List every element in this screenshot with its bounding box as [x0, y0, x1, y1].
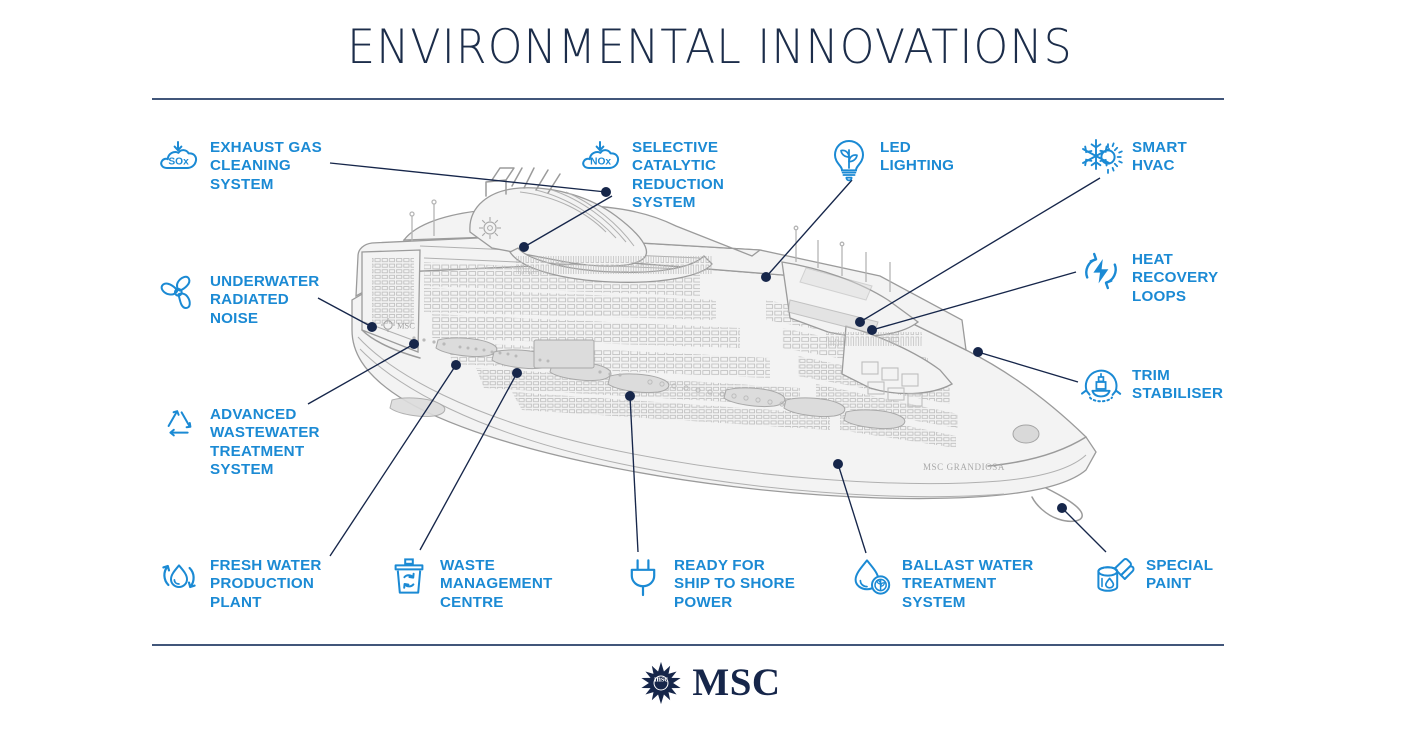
infographic-canvas: ENVIRONMENTAL INNOVATIONS .sl{fill:none;… — [0, 0, 1420, 730]
callout-waste-management-centre[interactable]: WASTE MANAGEMENT CENTRE — [386, 554, 586, 612]
callout-label: BALLAST WATER TREATMENT SYSTEM — [902, 554, 1033, 612]
drop-badge-icon — [848, 554, 894, 600]
paint-can-brush-icon — [1092, 554, 1138, 600]
callout-underwater-radiated-noise[interactable]: UNDERWATER RADIATED NOISE — [156, 270, 356, 328]
callout-heat-recovery-loops[interactable]: HEAT RECOVERY LOOPS — [1078, 248, 1268, 306]
msc-brand-logo: msc MSC — [0, 660, 1420, 705]
callout-label: FRESH WATER PRODUCTION PLANT — [210, 554, 322, 612]
callout-label: READY FOR SHIP TO SHORE POWER — [674, 554, 795, 612]
callout-ballast-water-treatment-system[interactable]: BALLAST WATER TREATMENT SYSTEM — [848, 554, 1048, 612]
propeller-icon — [156, 270, 202, 316]
callout-label: SPECIAL PAINT — [1146, 554, 1213, 594]
callout-label: EXHAUST GAS CLEANING SYSTEM — [210, 136, 322, 194]
callout-trim-stabiliser[interactable]: TRIM STABILISER — [1078, 364, 1268, 410]
nox-cloud-icon: NOx — [578, 136, 624, 182]
callout-label: TRIM STABILISER — [1132, 364, 1223, 404]
callout-special-paint[interactable]: SPECIAL PAINT — [1092, 554, 1272, 600]
eco-lightbulb-icon — [826, 136, 872, 182]
callout-exhaust-gas-cleaning-system[interactable]: SOx EXHAUST GAS CLEANING SYSTEM — [156, 136, 356, 194]
ship-circle-icon — [1078, 364, 1124, 410]
recycle-bin-icon — [386, 554, 432, 600]
recycling-triangle-icon — [156, 403, 202, 449]
ship-hull-name: MSC GRANDIOSA — [923, 462, 1005, 472]
callout-advanced-wastewater-treatment-system[interactable]: ADVANCED WASTEWATER TREATMENT SYSTEM — [156, 403, 356, 480]
callout-led-lighting[interactable]: LED LIGHTING — [826, 136, 1006, 182]
callout-ready-for-ship-to-shore-power[interactable]: READY FOR SHIP TO SHORE POWER — [620, 554, 820, 612]
callout-smart-hvac[interactable]: SMART HVAC — [1078, 136, 1258, 182]
msc-wordmark: MSC — [692, 660, 780, 705]
callout-selective-catalytic-reduction-system[interactable]: NOx SELECTIVE CATALYTIC REDUCTION SYSTEM — [578, 136, 778, 213]
callout-label: ADVANCED WASTEWATER TREATMENT SYSTEM — [210, 403, 320, 480]
sox-cloud-icon: SOx — [156, 136, 202, 182]
callout-label: LED LIGHTING — [880, 136, 954, 176]
msc-monogram-top: msc — [655, 674, 669, 683]
water-drop-cycle-icon — [156, 554, 202, 600]
power-plug-icon — [620, 554, 666, 600]
callout-label: SMART HVAC — [1132, 136, 1187, 176]
callout-label: WASTE MANAGEMENT CENTRE — [440, 554, 553, 612]
callout-fresh-water-production-plant[interactable]: FRESH WATER PRODUCTION PLANT — [156, 554, 346, 612]
recycle-bolt-icon — [1078, 248, 1124, 294]
snowflake-sun-icon — [1078, 136, 1124, 182]
svg-text:MSC: MSC — [397, 321, 415, 331]
callout-label: SELECTIVE CATALYTIC REDUCTION SYSTEM — [632, 136, 724, 213]
sox-icon-text: SOx — [168, 157, 189, 168]
callout-label: HEAT RECOVERY LOOPS — [1132, 248, 1218, 306]
nox-icon-text: NOx — [590, 157, 611, 168]
callout-label: UNDERWATER RADIATED NOISE — [210, 270, 319, 328]
msc-compass-star-icon: msc — [639, 661, 683, 705]
